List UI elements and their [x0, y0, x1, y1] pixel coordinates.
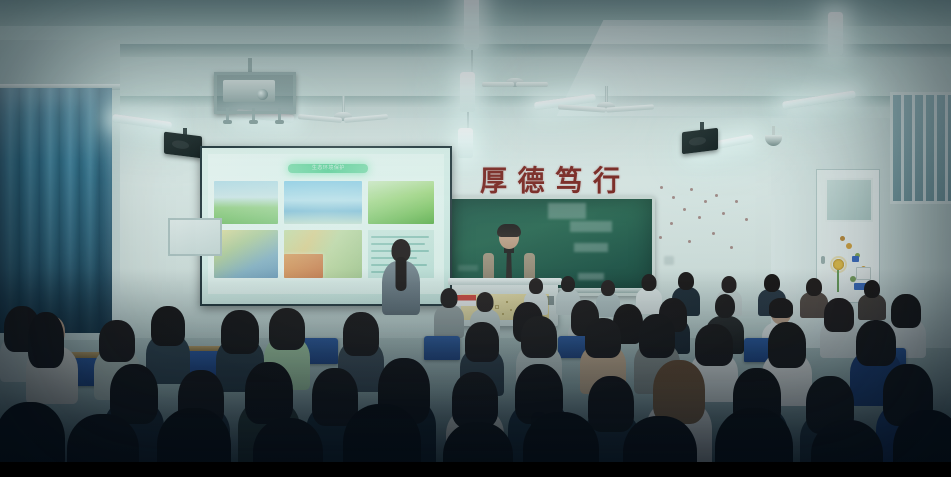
- window-bar: [901, 95, 904, 201]
- chalk-mark: [574, 243, 608, 252]
- student: [26, 316, 78, 402]
- hanging-light-back: [458, 128, 473, 158]
- window-bar: [945, 95, 948, 201]
- standing-student: [382, 239, 420, 313]
- wall-dot: [735, 200, 738, 203]
- ceiling-fan-right: [560, 86, 652, 118]
- letterbox-bottom: [0, 462, 951, 477]
- wall-dot: [712, 232, 715, 235]
- student-hair: [585, 318, 621, 358]
- hanging-light-right: [828, 12, 843, 56]
- student-hair: [269, 308, 305, 350]
- student-head: [477, 292, 494, 312]
- student-head: [722, 276, 737, 293]
- window-bar: [923, 95, 926, 201]
- student-hair: [245, 362, 293, 424]
- wall-dot: [683, 208, 686, 211]
- door-window: [825, 178, 873, 222]
- student-hair: [768, 322, 806, 368]
- cage-foot: [223, 120, 232, 124]
- wall-dot: [690, 188, 693, 191]
- student-hair: [99, 320, 135, 362]
- student-hair: [465, 322, 499, 362]
- student-ponytail: [396, 257, 407, 291]
- student-head: [806, 278, 822, 296]
- wall-speaker-left: [164, 132, 202, 159]
- calligraphy-char-3: 笃: [555, 157, 582, 198]
- window-bar: [912, 95, 915, 201]
- wall-dot: [715, 194, 718, 197]
- student: [858, 280, 886, 318]
- slide-image-forest: [368, 181, 434, 224]
- wall-dot: [722, 212, 725, 215]
- student-hair: [343, 312, 379, 356]
- cage-foot: [249, 120, 258, 124]
- student-head: [764, 274, 780, 292]
- door-knob[interactable]: [821, 256, 825, 264]
- lecturer-hair: [497, 224, 521, 237]
- ceiling-fan-left: [300, 96, 386, 126]
- projector-body: [223, 80, 275, 102]
- student-hair: [521, 316, 557, 358]
- fan-blade: [482, 82, 514, 87]
- chalk-mark: [548, 203, 586, 219]
- room-interior: 厚 德 笃 行: [0, 0, 951, 477]
- wall-sign-blue-small: [852, 256, 859, 262]
- wall-smudge: [664, 256, 674, 265]
- slide-image-coast: [284, 181, 362, 224]
- wall-speaker-right: [682, 128, 718, 154]
- hanging-light-mid: [460, 72, 475, 112]
- light-stem: [471, 50, 473, 72]
- seated-students: [0, 272, 951, 477]
- projector-lens-icon: [257, 89, 268, 100]
- slide-image-mountain: [214, 230, 278, 278]
- wall-dot: [745, 218, 748, 221]
- wall-dot: [672, 196, 675, 199]
- student-head: [601, 280, 615, 296]
- calligraphy-char-2: 德: [518, 157, 545, 198]
- student-head: [678, 272, 694, 290]
- wall-calligraphy: 厚 德 笃 行: [480, 160, 620, 196]
- chalk-mark: [570, 221, 612, 232]
- slide-text-line: [371, 236, 429, 238]
- student-head: [441, 288, 458, 308]
- student-head: [529, 278, 543, 294]
- classroom-seat[interactable]: [424, 336, 460, 360]
- student-hair: [769, 298, 793, 318]
- light-stem: [467, 112, 469, 128]
- window-bar: [934, 95, 937, 201]
- fan-blade: [516, 82, 548, 87]
- ceiling-fan-far: [480, 62, 550, 88]
- calligraphy-char-4: 行: [593, 157, 620, 198]
- wall-dot: [704, 200, 707, 203]
- slide-title-banner: 生态环境保护: [288, 164, 368, 173]
- student-dyed-hair: [653, 360, 705, 424]
- student-hair: [639, 314, 675, 358]
- wall-decal-dot: [840, 236, 845, 241]
- student-hair: [28, 312, 64, 368]
- slide-title-text: 生态环境保护: [288, 164, 368, 173]
- chalk-mark: [458, 265, 478, 271]
- student-hair: [856, 320, 896, 366]
- student-hair: [151, 306, 185, 346]
- student-head: [864, 280, 880, 298]
- barred-window: [890, 92, 951, 204]
- wall-dot: [730, 246, 733, 249]
- student-head: [642, 274, 657, 291]
- student-hair: [452, 372, 498, 428]
- wall-dot: [660, 186, 663, 189]
- cage-foot: [275, 120, 284, 124]
- wall-dot: [698, 216, 701, 219]
- wall-dot: [688, 240, 691, 243]
- wall-dot: [659, 236, 662, 239]
- hanging-light-front: [464, 0, 479, 50]
- student-hair: [221, 310, 259, 354]
- classroom-scene: 厚 德 笃 行: [0, 0, 951, 477]
- wall-dot: [670, 222, 673, 225]
- slide-image-city-field: [214, 181, 278, 224]
- calligraphy-char-1: 厚: [480, 157, 507, 198]
- student-head: [715, 294, 735, 318]
- wall-notice-board: [168, 218, 222, 256]
- wall-decal-dot: [846, 243, 852, 249]
- student-head: [561, 276, 575, 292]
